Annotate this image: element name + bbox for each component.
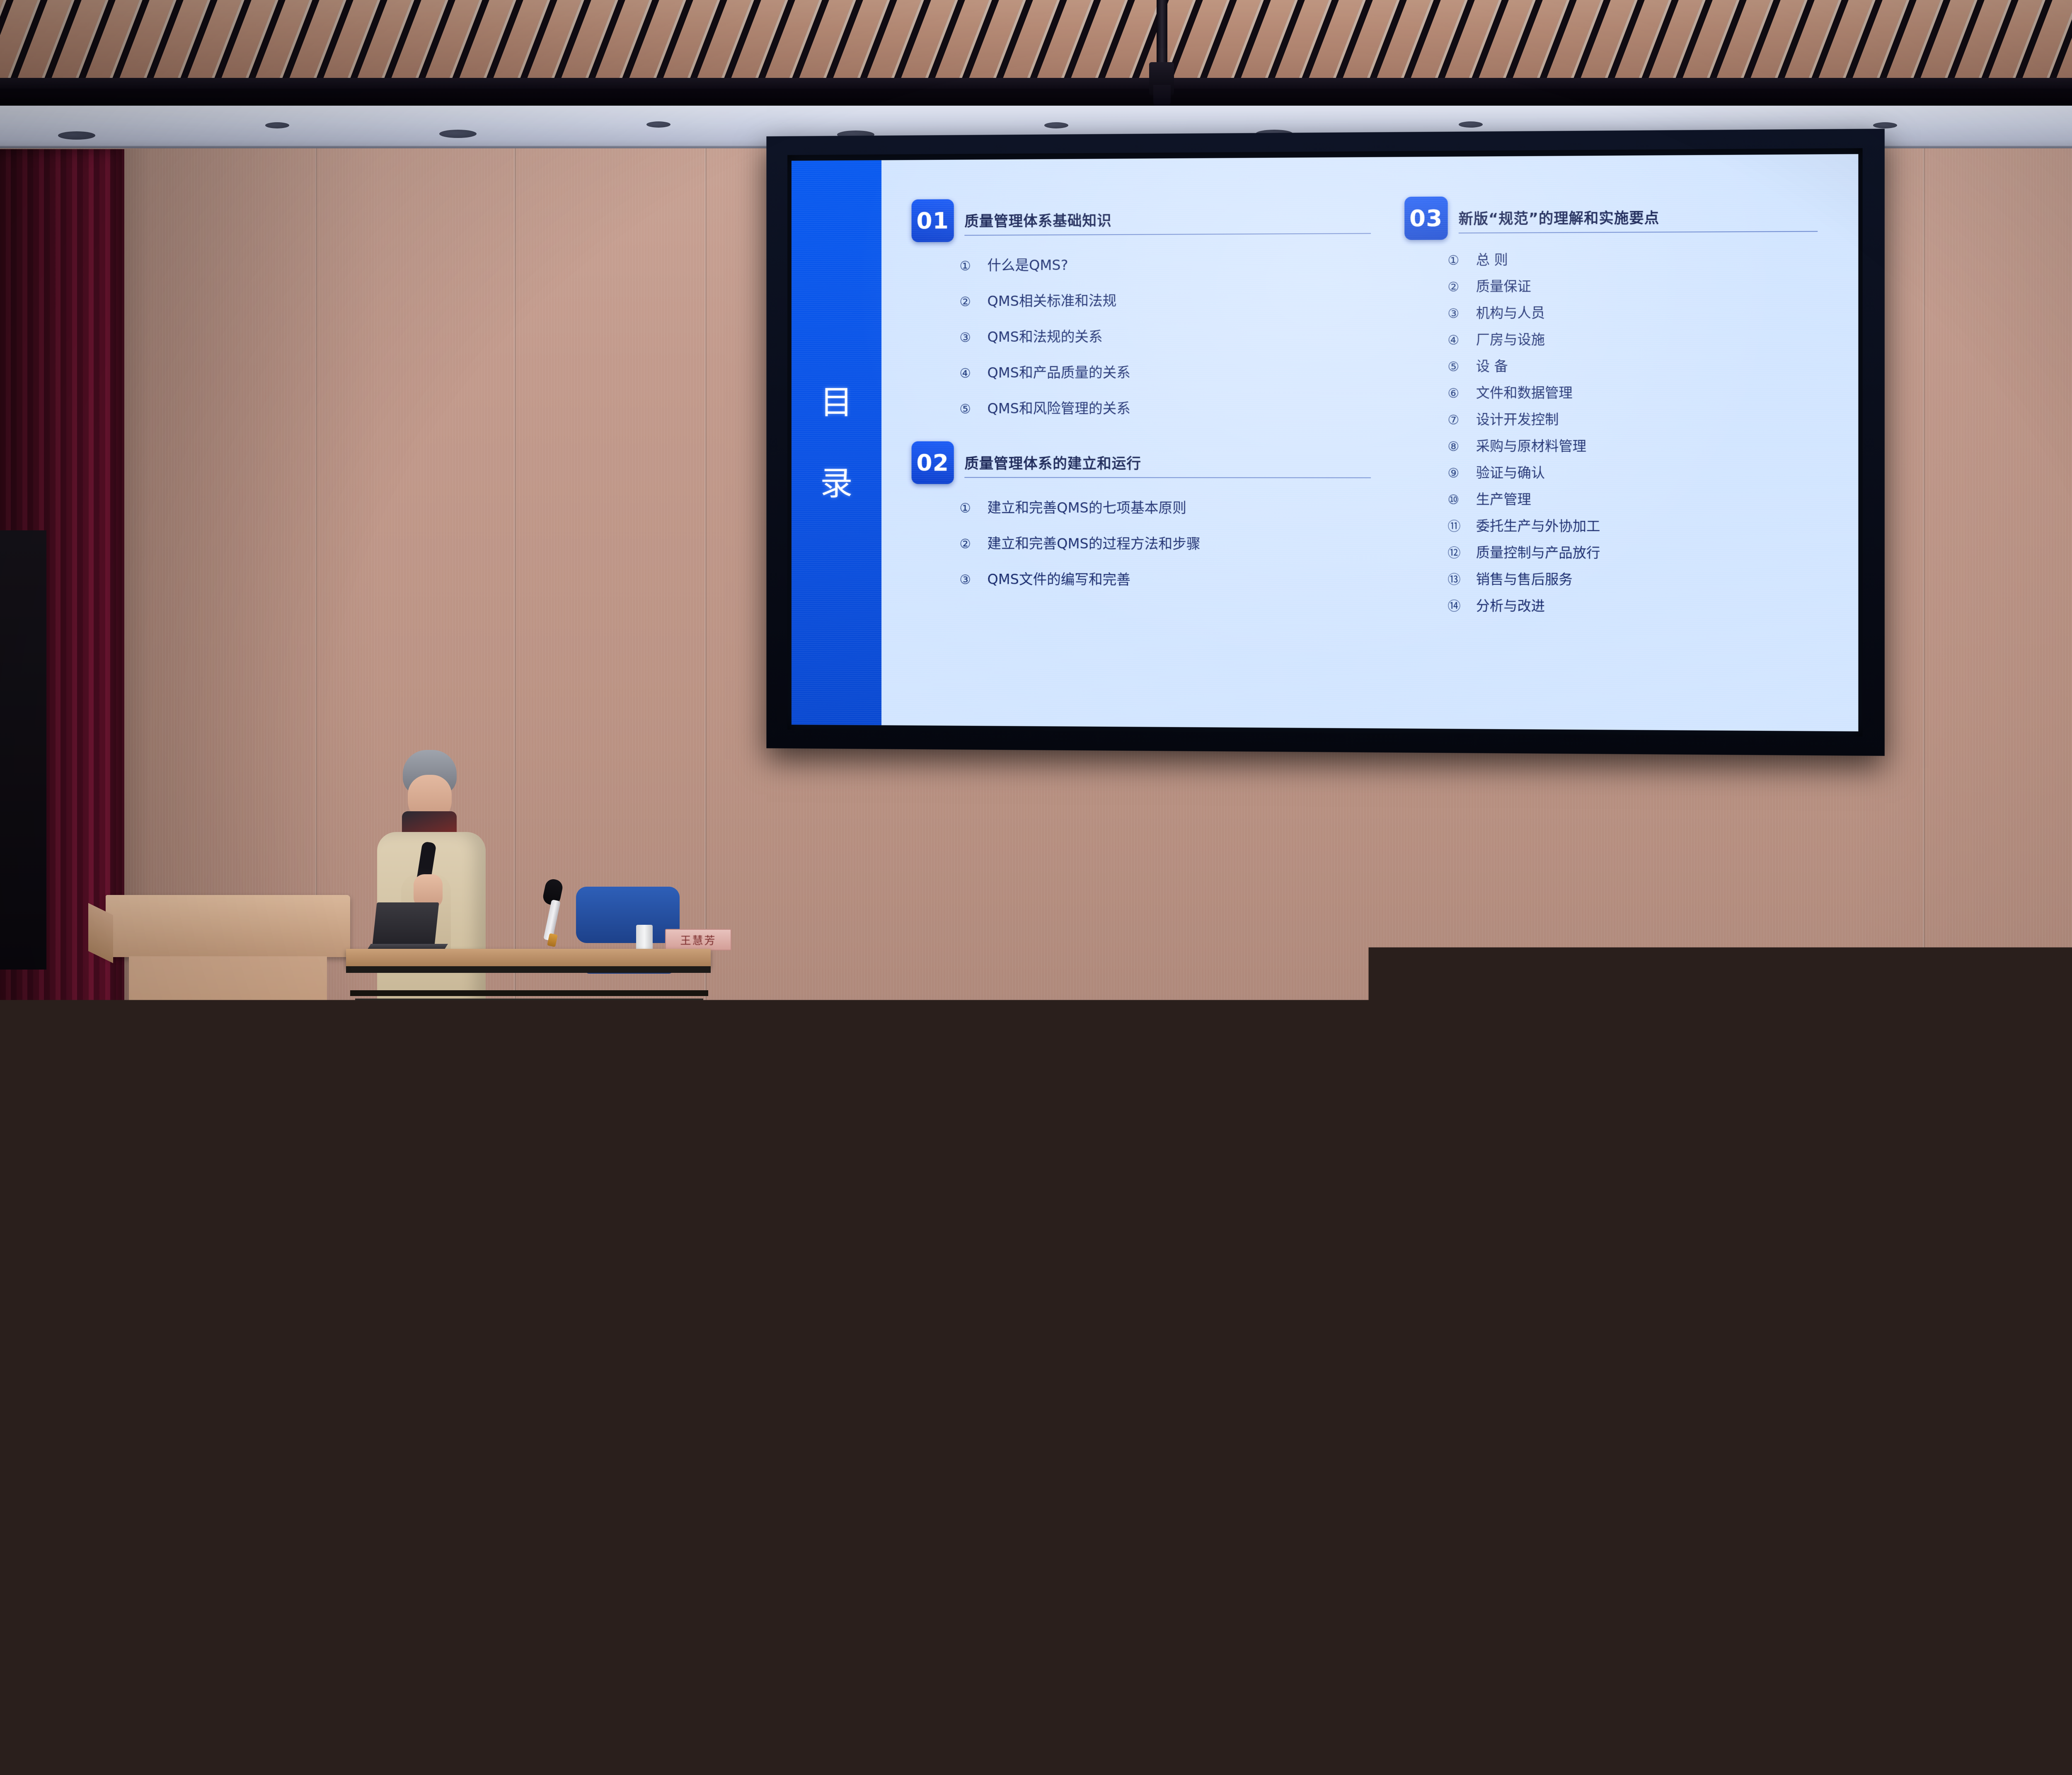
- seat-trim: [1508, 1623, 1720, 1629]
- seat-trim: [1723, 1426, 1935, 1430]
- seat-headrest: [1723, 1761, 1935, 1775]
- section-badge-01: 01: [912, 199, 954, 242]
- section-badge-03: 03: [1404, 196, 1447, 240]
- seat-headrest: [432, 1566, 644, 1623]
- list-item: ⑪委托生产与外协加工: [1447, 515, 1833, 535]
- item-number: ⑩: [1447, 492, 1467, 507]
- list-item: ⑧采购与原材料管理: [1447, 435, 1833, 455]
- seat-headrest: [862, 1384, 1075, 1426]
- seat-headrest: [1, 1384, 214, 1426]
- laptop: [369, 902, 438, 952]
- ceiling-downlight: [646, 121, 670, 128]
- audience-seat[interactable]: [1508, 1761, 1720, 1775]
- seat-headrest: [647, 1566, 859, 1623]
- seat-trim: [474, 1731, 709, 1738]
- section-rule-03: [1459, 231, 1818, 233]
- audience-head: [354, 1197, 421, 1272]
- seat-trim: [862, 1623, 1075, 1629]
- seat-headrest: [1293, 1761, 1505, 1775]
- lecture-hall-scene: 目 录 01 质量管理体系基础知识: [0, 0, 2072, 1775]
- side-doorway: [0, 530, 46, 970]
- section-title-01: 质量管理体系基础知识: [964, 208, 1388, 231]
- item-label: 机构与人员: [1476, 302, 1545, 322]
- seat-trim: [1, 1347, 235, 1351]
- seat-headrest: [1077, 1566, 1290, 1623]
- item-label: QMS和产品质量的关系: [987, 361, 1130, 382]
- ceiling-truss: [0, 78, 2072, 89]
- seat-headrest: [1293, 1566, 1505, 1623]
- item-number: ⑤: [960, 402, 978, 417]
- seat-trim: [1723, 1623, 1935, 1629]
- audience-head: [1028, 1197, 1090, 1270]
- seat-headrest: [1185, 1666, 1419, 1731]
- seat-trim: [948, 1516, 1182, 1521]
- seat-trim: [1658, 1731, 1892, 1738]
- seat-trim: [432, 1623, 644, 1629]
- seat-trim: [432, 1426, 644, 1430]
- seat-headrest: [1077, 1384, 1290, 1426]
- seat-headrest: [216, 1566, 429, 1623]
- item-label: 什么是QMS?: [987, 254, 1068, 274]
- seat-headrest: [1421, 1666, 1656, 1731]
- seat-headrest: [1938, 1384, 2072, 1426]
- audience-seat[interactable]: [647, 1761, 859, 1775]
- item-label: 采购与原材料管理: [1476, 435, 1586, 455]
- item-number: ⑥: [1447, 386, 1467, 401]
- seat-headrest: [1508, 1761, 1720, 1775]
- seat-headrest: [432, 1384, 644, 1426]
- seat-trim: [474, 1347, 709, 1351]
- item-number: ③: [960, 572, 978, 587]
- item-label: QMS和风险管理的关系: [987, 397, 1130, 417]
- seat-headrest: [1, 1666, 235, 1731]
- item-number: ②: [960, 537, 978, 551]
- projection-screen: 目 录 01 质量管理体系基础知识: [766, 129, 1884, 756]
- audience-seat[interactable]: [238, 1666, 472, 1775]
- presentation-slide: 目 录 01 质量管理体系基础知识: [792, 154, 1858, 731]
- audience-seat[interactable]: [1421, 1666, 1656, 1775]
- list-item: ② 建立和完善QMS的过程方法和步骤: [960, 532, 1388, 553]
- seat-trim: [1, 1516, 235, 1521]
- section-items-02: ① 建立和完善QMS的七项基本原则 ② 建立和完善QMS的过程方法和步骤 ③ Q…: [912, 496, 1388, 590]
- seat-trim: [1, 1426, 214, 1430]
- audience-seat[interactable]: [1185, 1666, 1419, 1775]
- seat-trim: [1938, 1426, 2072, 1430]
- audience-head: [102, 1195, 164, 1268]
- list-item: ④ QMS和产品质量的关系: [960, 361, 1388, 382]
- ceiling-downlight: [1459, 121, 1483, 128]
- seat-headrest: [1658, 1666, 1892, 1731]
- seat-headrest: [1658, 1467, 1892, 1516]
- seat-trim: [948, 1347, 1182, 1351]
- item-number: ①: [960, 259, 978, 273]
- list-item: ⑭分析与改进: [1447, 595, 1833, 616]
- list-item: ① 什么是QMS?: [960, 252, 1388, 274]
- item-number: ⑤: [1447, 359, 1467, 374]
- seat-headrest: [216, 1384, 429, 1426]
- audience-head: [1583, 1195, 1651, 1274]
- seat-headrest: [474, 1666, 709, 1731]
- seat-headrest: [1723, 1566, 1935, 1623]
- list-item: ⑦设计开发控制: [1447, 408, 1833, 428]
- seat-headrest: [1, 1761, 214, 1775]
- item-number: ⑫: [1447, 542, 1467, 561]
- item-number: ⑨: [1447, 466, 1467, 481]
- seat-headrest: [474, 1311, 709, 1347]
- seat-trim: [712, 1516, 946, 1521]
- ceiling-downlight: [1873, 122, 1897, 128]
- nameplate: 王慧芳: [665, 929, 731, 950]
- section-header-03: 03 新版“规范”的理解和实施要点: [1404, 194, 1833, 240]
- audience-seat[interactable]: [432, 1761, 644, 1775]
- seat-trim: [1293, 1623, 1505, 1629]
- seat-headrest: [647, 1384, 859, 1426]
- audience-seating: [0, 1152, 2072, 1775]
- list-item: ④厂房与设施: [1447, 328, 1833, 348]
- seat-headrest: [647, 1761, 859, 1775]
- ceiling-downlight: [265, 122, 289, 128]
- audience-seat[interactable]: [862, 1761, 1075, 1775]
- list-item: ③ QMS和法规的关系: [960, 325, 1388, 346]
- seat-headrest: [1938, 1761, 2072, 1775]
- audience-seat[interactable]: [1723, 1761, 1935, 1775]
- audience-seat[interactable]: [1658, 1666, 1892, 1775]
- item-label: 分析与改进: [1476, 595, 1545, 615]
- seat-headrest: [1508, 1566, 1720, 1623]
- item-number: ⑦: [1447, 413, 1467, 428]
- item-label: QMS文件的编写和完善: [987, 568, 1130, 589]
- seat-headrest: [238, 1467, 472, 1516]
- seat-trim: [1077, 1426, 1290, 1430]
- section-items-01: ① 什么是QMS? ② QMS相关标准和法规 ③ QMS和法规的关系 ④ QMS…: [912, 252, 1388, 417]
- item-number: ②: [1447, 280, 1467, 295]
- seat-trim: [862, 1426, 1075, 1430]
- seat-headrest: [948, 1467, 1182, 1516]
- seat-headrest: [862, 1761, 1075, 1775]
- seat-trim: [1185, 1731, 1419, 1738]
- item-label: 总 则: [1476, 249, 1508, 268]
- seat-headrest: [1185, 1467, 1419, 1516]
- item-number: ④: [960, 366, 978, 381]
- section-header-01: 01 质量管理体系基础知识: [912, 197, 1388, 242]
- seat-row: [0, 1666, 2072, 1775]
- seat-headrest: [238, 1666, 472, 1731]
- seat-headrest: [862, 1566, 1075, 1623]
- seat-headrest: [1, 1566, 214, 1623]
- seat-headrest: [432, 1761, 644, 1775]
- item-number: ⑪: [1447, 516, 1467, 534]
- seat-headrest: [712, 1467, 946, 1516]
- ceiling-downlight: [1044, 122, 1068, 128]
- audience-seat[interactable]: [712, 1666, 946, 1775]
- water-bottle: [1152, 1166, 1166, 1211]
- seat-headrest: [1, 1311, 235, 1347]
- item-number: ④: [1447, 333, 1467, 348]
- item-number: ⑭: [1447, 595, 1467, 614]
- ceiling-downlight: [439, 130, 477, 138]
- audience-seat[interactable]: [1077, 1761, 1290, 1775]
- seat-trim: [1077, 1623, 1290, 1629]
- seat-headrest: [1, 1467, 235, 1516]
- ceiling-downlight: [58, 131, 95, 140]
- seat-trim: [948, 1731, 1182, 1738]
- item-number: ⑧: [1447, 439, 1467, 454]
- item-label: QMS和法规的关系: [987, 325, 1102, 346]
- seat-trim: [1938, 1623, 2072, 1629]
- seat-headrest: [1421, 1467, 1656, 1516]
- list-item: ③机构与人员: [1447, 301, 1833, 322]
- item-label: 建立和完善QMS的过程方法和步骤: [987, 532, 1200, 553]
- seat-trim: [1421, 1731, 1656, 1738]
- audience-seat[interactable]: [1895, 1666, 2072, 1775]
- seat-trim: [1293, 1426, 1505, 1430]
- list-item: ⑩生产管理: [1447, 488, 1833, 508]
- seat-trim: [238, 1516, 472, 1521]
- section-header-02: 02 质量管理体系的建立和运行: [912, 441, 1388, 484]
- seat-trim: [1421, 1516, 1656, 1521]
- audience-seat[interactable]: [474, 1666, 709, 1775]
- slide-side-rail: 目 录: [792, 160, 881, 725]
- seat-headrest: [216, 1761, 429, 1775]
- section-items-03: ①总 则②质量保证③机构与人员④厂房与设施⑤设 备⑥文件和数据管理⑦设计开发控制…: [1404, 247, 1833, 616]
- water-cup: [636, 925, 653, 950]
- item-label: 设 备: [1476, 355, 1508, 375]
- ceiling-slats: [0, 0, 2072, 111]
- seat-headrest: [1895, 1467, 2072, 1516]
- audience-seat[interactable]: [948, 1666, 1182, 1775]
- list-item: ① 建立和完善QMS的七项基本原则: [960, 496, 1388, 517]
- seat-trim: [1185, 1347, 1419, 1351]
- seat-trim: [1895, 1731, 2072, 1738]
- section-badge-02: 02: [912, 441, 954, 484]
- seat-row: [0, 1761, 2072, 1775]
- section-title-03: 新版“规范”的理解和实施要点: [1459, 206, 1833, 229]
- seat-headrest: [1185, 1311, 1419, 1347]
- seat-headrest: [1895, 1666, 2072, 1731]
- audience-seat[interactable]: [1, 1666, 235, 1775]
- seat-trim: [216, 1623, 429, 1629]
- list-item: ⑨验证与确认: [1447, 462, 1833, 482]
- seat-headrest: [948, 1666, 1182, 1731]
- seat-headrest: [712, 1666, 946, 1731]
- item-label: 质量控制与产品放行: [1476, 542, 1600, 562]
- item-number: ①: [1447, 253, 1467, 268]
- section-rule-01: [964, 233, 1370, 236]
- list-item: ⑤ QMS和风险管理的关系: [960, 397, 1388, 418]
- seat-headrest: [948, 1311, 1182, 1347]
- item-label: 质量保证: [1476, 275, 1531, 295]
- seat-trim: [216, 1426, 429, 1430]
- seat-headrest: [474, 1467, 709, 1516]
- rail-char-top: 目: [820, 386, 852, 418]
- item-label: 设计开发控制: [1476, 409, 1559, 428]
- item-label: 建立和完善QMS的七项基本原则: [987, 496, 1186, 517]
- seat-trim: [712, 1731, 946, 1738]
- seat-trim: [1185, 1516, 1419, 1521]
- item-number: ②: [960, 295, 978, 310]
- list-item: ①总 则: [1447, 247, 1833, 269]
- seat-trim: [1, 1623, 214, 1629]
- seat-trim: [1895, 1516, 2072, 1521]
- seat-headrest: [1077, 1761, 1290, 1775]
- item-number: ⑬: [1447, 569, 1467, 588]
- seat-trim: [474, 1516, 709, 1521]
- seat-trim: [647, 1426, 859, 1430]
- section-title-02: 质量管理体系的建立和运行: [964, 452, 1388, 473]
- item-label: 验证与确认: [1476, 462, 1545, 481]
- audience-seat[interactable]: [1938, 1761, 2072, 1775]
- audience-seat[interactable]: [1293, 1761, 1505, 1775]
- seat-trim: [1508, 1426, 1720, 1430]
- item-label: QMS相关标准和法规: [987, 290, 1116, 310]
- item-label: 销售与售后服务: [1476, 568, 1573, 588]
- section-rule-02: [964, 477, 1370, 478]
- audience-ponytail: [1348, 1250, 1377, 1320]
- item-label: 委托生产与外协加工: [1476, 515, 1600, 535]
- item-number: ①: [960, 501, 978, 516]
- list-item: ③ QMS文件的编写和完善: [960, 568, 1388, 590]
- item-label: 生产管理: [1476, 488, 1531, 508]
- list-item: ⑫质量控制与产品放行: [1447, 542, 1833, 563]
- seat-trim: [1658, 1347, 1892, 1351]
- seat-trim: [1658, 1516, 1892, 1521]
- list-item: ② QMS相关标准和法规: [960, 288, 1388, 310]
- seat-headrest: [1293, 1384, 1505, 1426]
- list-item: ⑥文件和数据管理: [1447, 381, 1833, 401]
- seat-headrest: [1508, 1384, 1720, 1426]
- seat-headrest: [1421, 1311, 1656, 1347]
- seat-trim: [647, 1623, 859, 1629]
- audience-seat[interactable]: [216, 1761, 429, 1775]
- seat-trim: [1421, 1347, 1656, 1351]
- list-item: ⑤设 备: [1447, 355, 1833, 375]
- seat-trim: [238, 1731, 472, 1738]
- item-number: ③: [960, 330, 978, 345]
- item-label: 厂房与设施: [1476, 329, 1545, 349]
- nameplate-label: 王慧芳: [680, 932, 716, 948]
- list-item: ⑬销售与售后服务: [1447, 568, 1833, 589]
- seat-trim: [1, 1731, 235, 1738]
- seat-headrest: [1658, 1311, 1892, 1347]
- seat-headrest: [1723, 1384, 1935, 1426]
- item-number: ③: [1447, 306, 1467, 321]
- list-item: ②质量保证: [1447, 274, 1833, 295]
- seat-headrest: [1938, 1566, 2072, 1623]
- audience-seat[interactable]: [1, 1761, 214, 1775]
- rail-char-bottom: 录: [820, 467, 852, 500]
- item-label: 文件和数据管理: [1476, 382, 1573, 401]
